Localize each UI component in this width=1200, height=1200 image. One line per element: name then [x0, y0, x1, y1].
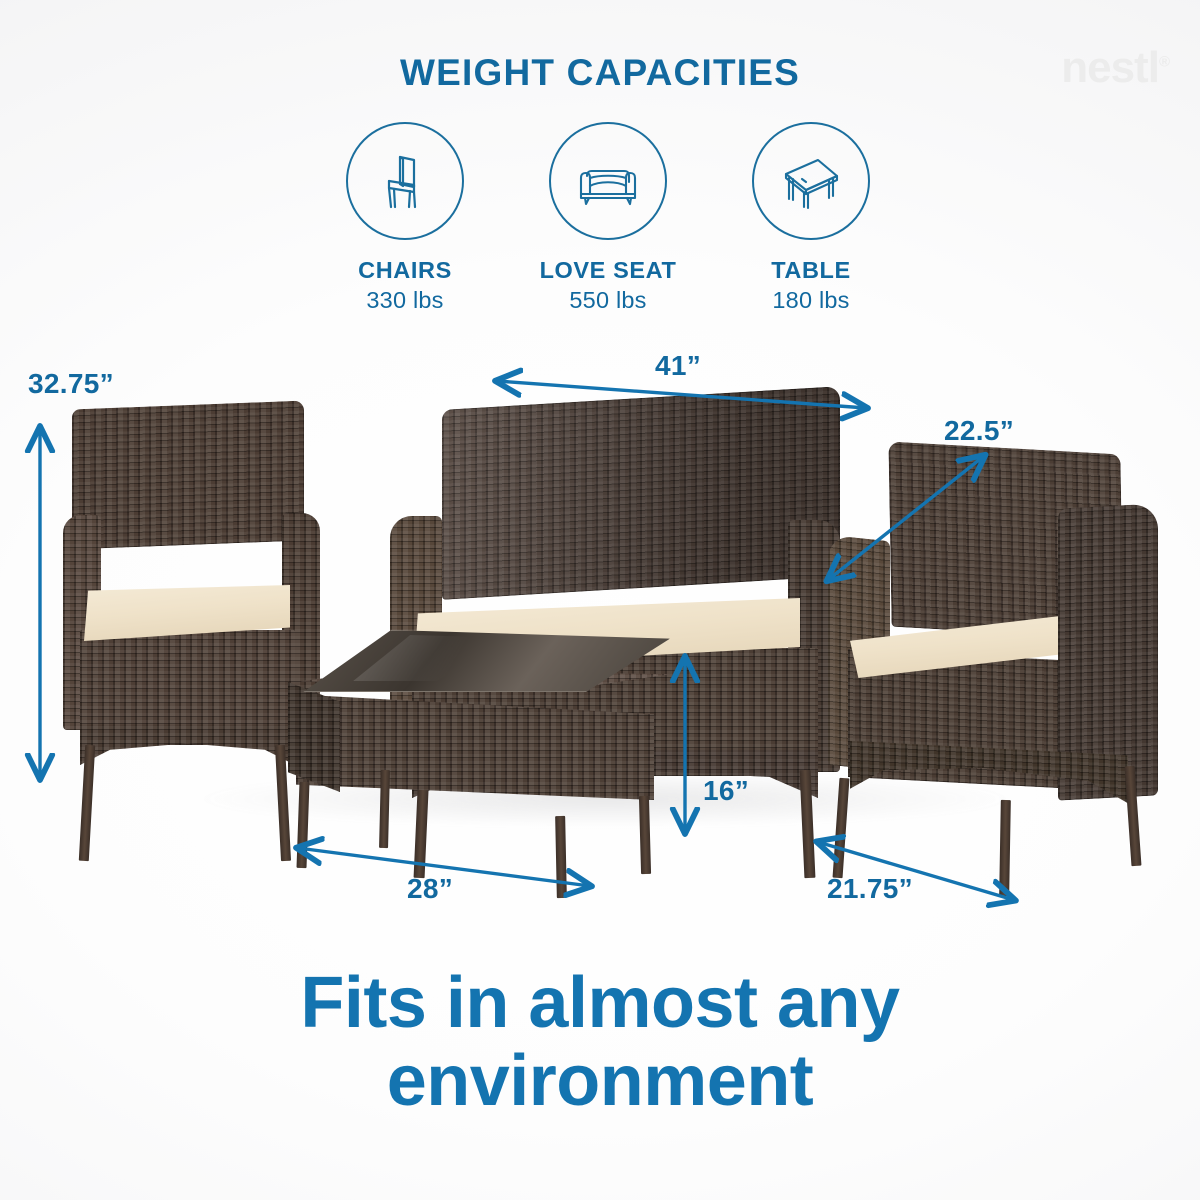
coffee-table-leg-front-right: [639, 796, 651, 874]
glass-highlight: [319, 635, 509, 681]
loveseat-icon-circle: [549, 122, 667, 240]
chair-icon: [369, 145, 441, 217]
infographic-canvas: nestl® WEIGHT CAPACITIES: [0, 0, 1200, 1200]
headline-line-1: Fits in almost any: [300, 963, 899, 1043]
chair-right-leg-front-right: [999, 800, 1011, 896]
dimension-label-height-table: 16”: [703, 775, 749, 807]
furniture-scene: [0, 330, 1200, 930]
chair-left-backrest: [72, 401, 304, 550]
capacity-label: CHAIRS: [358, 257, 452, 284]
dimension-label-width-chair: 21.75”: [827, 873, 913, 905]
dimension-label-depth-chair: 22.5”: [944, 415, 1014, 447]
dimension-label-width-table: 28”: [407, 873, 453, 905]
coffee-table-leg-back-left: [379, 770, 390, 848]
headline-line-2: environment: [0, 1043, 1200, 1121]
chair-left-apron: [80, 725, 295, 765]
coffee-table-leg-back-right: [555, 816, 567, 898]
capacity-label: LOVE SEAT: [540, 257, 677, 284]
table-icon-circle: [752, 122, 870, 240]
capacity-item-table: TABLE 180 lbs: [726, 122, 896, 314]
capacity-label: TABLE: [771, 257, 851, 284]
chair-right: [828, 448, 1158, 878]
dimension-label-height-chair: 32.75”: [28, 368, 114, 400]
coffee-table-front-panel: [296, 690, 654, 800]
weight-capacity-group: CHAIRS 330 lbs: [320, 122, 896, 322]
chair-left: [60, 405, 320, 875]
coffee-table-leg-front-left: [297, 782, 310, 868]
footer-headline: Fits in almost any environment: [0, 965, 1200, 1121]
love-seat-backrest-shading: [442, 386, 840, 600]
coffee-table: [288, 630, 670, 870]
capacity-value: 180 lbs: [772, 287, 849, 314]
chair-icon-circle: [346, 122, 464, 240]
weight-capacities-title: WEIGHT CAPACITIES: [0, 52, 1200, 94]
table-icon: [774, 144, 848, 218]
capacity-value: 550 lbs: [569, 287, 646, 314]
loveseat-icon: [569, 142, 647, 220]
capacity-value: 330 lbs: [366, 287, 443, 314]
capacity-item-chairs: CHAIRS 330 lbs: [320, 122, 490, 314]
capacity-item-love-seat: LOVE SEAT 550 lbs: [523, 122, 693, 314]
dimension-label-width-loveseat: 41”: [655, 350, 701, 382]
chair-right-leg-front-left: [833, 778, 850, 878]
